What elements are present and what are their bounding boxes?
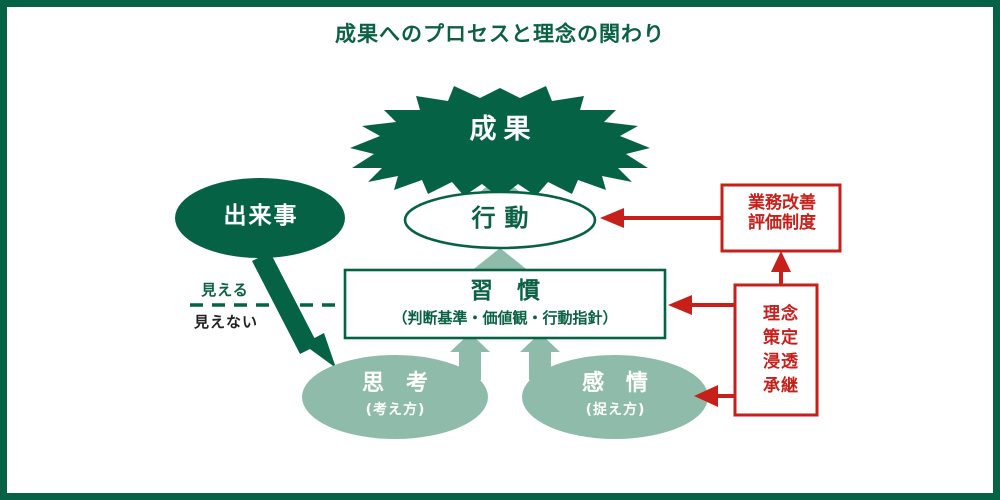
philosophy-box-line2: 策定 — [738, 326, 824, 350]
emotion-label: 感 情 — [530, 371, 700, 396]
outcome-label: 成果 — [400, 114, 600, 145]
arrow-habit-to-action — [470, 248, 530, 272]
philosophy-box-label: 理念 策定 浸透 承継 — [738, 302, 824, 399]
visible-label: 見える — [180, 282, 270, 299]
thinking-label: 思 考 — [310, 371, 480, 396]
invisible-label: 見えない — [176, 314, 276, 331]
diagram-canvas: 成果へのプロセスと理念の関わり — [0, 0, 1000, 500]
arrow-evaluation-to-action — [600, 208, 722, 228]
philosophy-box-line3: 浸透 — [738, 350, 824, 374]
action-label: 行動 — [410, 205, 590, 233]
arrow-philosophy-to-habit — [668, 295, 735, 315]
thinking-sublabel: (考え方) — [310, 402, 480, 418]
arrow-philosophy-to-evaluation — [771, 251, 791, 285]
philosophy-box-line1: 理念 — [738, 302, 824, 326]
evaluation-box-line2: 評価制度 — [722, 214, 842, 234]
diagram-graphics — [0, 0, 1000, 500]
event-label: 出来事 — [175, 203, 345, 229]
habit-label: 習 慣 — [345, 278, 665, 304]
arrow-event-to-thinking — [252, 252, 336, 368]
emotion-sublabel: (捉え方) — [530, 402, 700, 418]
evaluation-box-line1: 業務改善 — [722, 194, 842, 214]
evaluation-box-label: 業務改善 評価制度 — [722, 194, 842, 233]
habit-sublabel: （判断基準・価値観・行動指針） — [345, 310, 665, 327]
philosophy-box-line4: 承継 — [738, 374, 824, 398]
